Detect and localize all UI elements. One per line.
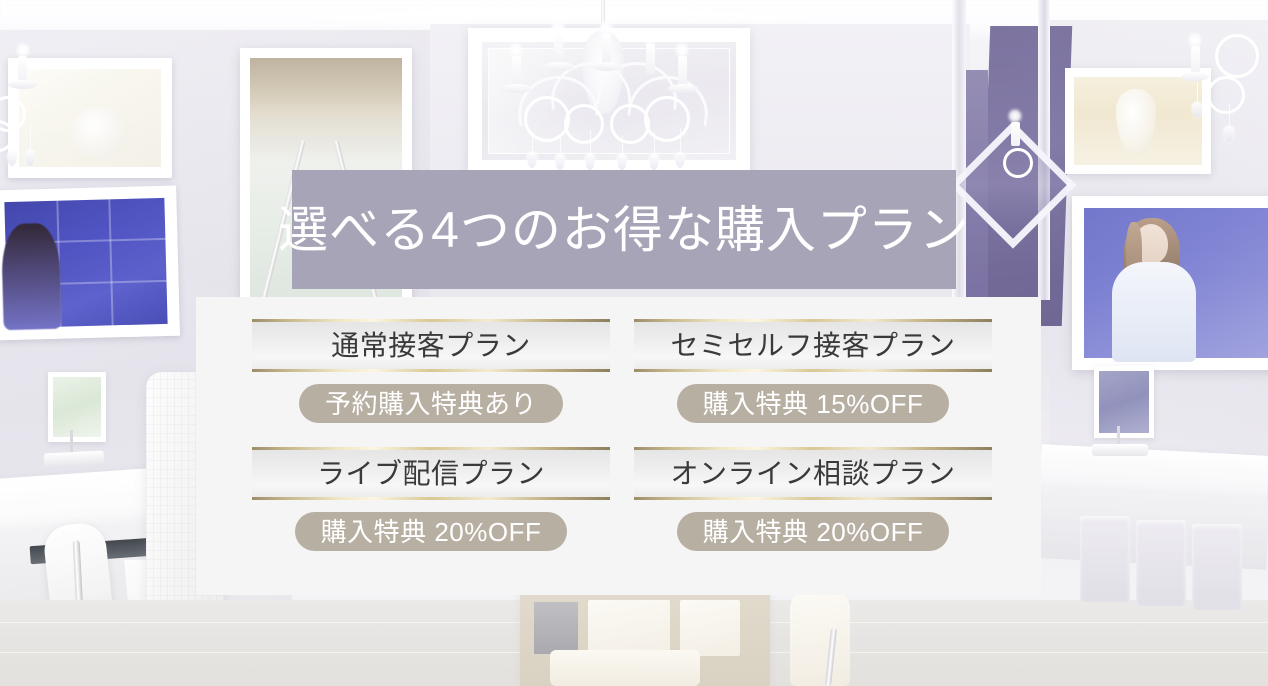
- plan-title: オンライン相談プラン: [670, 460, 955, 488]
- chandelier-flame: [509, 42, 523, 58]
- plan-card-online-consultation[interactable]: オンライン相談プラン 購入特典 20%OFF: [634, 447, 992, 551]
- person-silhouette: [1, 223, 62, 330]
- sconce-swirl: [1003, 148, 1033, 178]
- wall-sconce-purple-wall: [1005, 100, 1027, 186]
- sconce-swirl: [1215, 34, 1259, 78]
- plan-benefit-badge: 購入特典 15%OFF: [677, 384, 950, 423]
- sconce-flame: [1188, 32, 1202, 48]
- crystal-string: [622, 136, 623, 156]
- vanity-mirror-right-base: [1092, 444, 1148, 456]
- plan-benefit-badge: 購入特典 20%OFF: [295, 512, 568, 551]
- bench-cushion: [588, 600, 670, 656]
- crystal-drop: [585, 154, 595, 170]
- person-in-display: [1104, 218, 1200, 358]
- plan-card-normal-service[interactable]: 通常接客プラン 予約購入特典あり: [252, 319, 610, 423]
- bench-cushion: [680, 600, 740, 656]
- chandelier-candle: [602, 34, 611, 64]
- vanity-mirror-left: [48, 372, 106, 442]
- white-vase: [1116, 89, 1156, 155]
- mirror-reflection-blob: [71, 107, 127, 159]
- plans-grid: 通常接客プラン 予約購入特典あり セミセルフ接客プラン 購入特典 15%OFF …: [252, 319, 992, 551]
- crystal-string: [654, 132, 655, 156]
- crystal-string: [12, 130, 13, 152]
- sconce-candle: [18, 56, 27, 82]
- sconce-bobeche: [8, 80, 38, 89]
- plans-panel: 通常接客プラン 予約購入特典あり セミセルフ接客プラン 購入特典 15%OFF …: [196, 297, 1041, 595]
- window-blind: [250, 58, 402, 116]
- framed-monitor-left: [0, 186, 180, 341]
- sconce-bobeche: [1181, 72, 1209, 81]
- plan-benefit-badge: 予約購入特典あり: [299, 384, 563, 423]
- plan-benefit-badge: 購入特典 20%OFF: [677, 512, 950, 551]
- crystal-drop: [1224, 126, 1234, 142]
- plan-header: オンライン相談プラン: [634, 447, 992, 500]
- sconce-flame: [16, 42, 30, 58]
- crystal-drop: [649, 154, 659, 170]
- bench-seat-cushion: [550, 650, 700, 686]
- chair-right-of-bench: [790, 584, 850, 686]
- crystal-drop: [7, 150, 17, 166]
- crystal-drop: [675, 152, 685, 168]
- plan-title: セミセルフ接客プラン: [670, 332, 955, 360]
- plan-badge-row: 予約購入特典あり: [252, 384, 610, 423]
- plan-badge-row: 購入特典 20%OFF: [634, 512, 992, 551]
- plan-header: ライブ配信プラン: [252, 447, 610, 500]
- plan-header: セミセルフ接客プラン: [634, 319, 992, 372]
- crystal-drop: [1192, 102, 1202, 118]
- sconce-swirl: [1207, 76, 1245, 114]
- headline-text: 選べる4つのお得な購入プラン: [278, 205, 970, 255]
- crystal-string: [30, 126, 31, 152]
- wall-sconce-right: [1185, 20, 1268, 190]
- framed-display-with-person: [1072, 196, 1268, 370]
- chandelier-bobeche: [544, 62, 574, 71]
- chandelier-candle: [646, 44, 655, 74]
- storage-bin: [1192, 524, 1242, 610]
- chandelier-flame: [675, 42, 689, 58]
- crystal-string: [1229, 104, 1230, 128]
- vanity-mirror-right: [1094, 366, 1154, 438]
- crystal-drop: [25, 150, 35, 166]
- plan-badge-row: 購入特典 15%OFF: [634, 384, 992, 423]
- headline-banner: 選べる4つのお得な購入プラン: [292, 170, 956, 289]
- plan-title: ライブ配信プラン: [317, 460, 545, 488]
- chandelier-candle: [678, 56, 687, 86]
- plan-card-semi-self-service[interactable]: セミセルフ接客プラン 購入特典 15%OFF: [634, 319, 992, 423]
- chandelier-swirl: [524, 96, 570, 142]
- sconce-candle: [1011, 122, 1020, 146]
- chandelier-candle: [554, 34, 563, 64]
- crystal-drop: [555, 154, 565, 170]
- crystal-string: [1197, 82, 1198, 104]
- sconce-flame: [1008, 108, 1022, 124]
- storage-bin: [1080, 516, 1130, 602]
- chandelier-flame: [551, 20, 565, 36]
- promo-banner-stage: 選べる4つのお得な購入プラン 通常接客プラン 予約購入特典あり セミセルフ接客プ…: [0, 0, 1268, 686]
- person-body: [1112, 262, 1196, 362]
- crystal-string: [680, 128, 681, 154]
- chandelier-swirl: [644, 96, 690, 142]
- chandelier-bobeche: [668, 84, 698, 93]
- bench-dark-panel: [534, 602, 578, 654]
- plan-title: 通常接客プラン: [331, 332, 531, 360]
- chandelier-flame: [643, 30, 657, 46]
- crystal-chandelier: [498, 0, 708, 180]
- chandelier-bobeche: [592, 62, 622, 71]
- crystal-drop: [527, 152, 537, 168]
- wall-sconce-left: [0, 34, 60, 184]
- plan-header: 通常接客プラン: [252, 319, 610, 372]
- sconce-candle: [1191, 46, 1200, 74]
- plan-card-live-stream[interactable]: ライブ配信プラン 購入特典 20%OFF: [252, 447, 610, 551]
- crystal-drop: [617, 154, 627, 170]
- chandelier-bobeche: [502, 84, 532, 93]
- chandelier-candle: [512, 56, 521, 86]
- crystal-string: [590, 130, 591, 156]
- storage-bin: [1136, 520, 1186, 606]
- chandelier-swirl: [564, 104, 604, 144]
- chandelier-flame: [599, 20, 613, 36]
- crystal-string: [532, 132, 533, 154]
- plan-badge-row: 購入特典 20%OFF: [252, 512, 610, 551]
